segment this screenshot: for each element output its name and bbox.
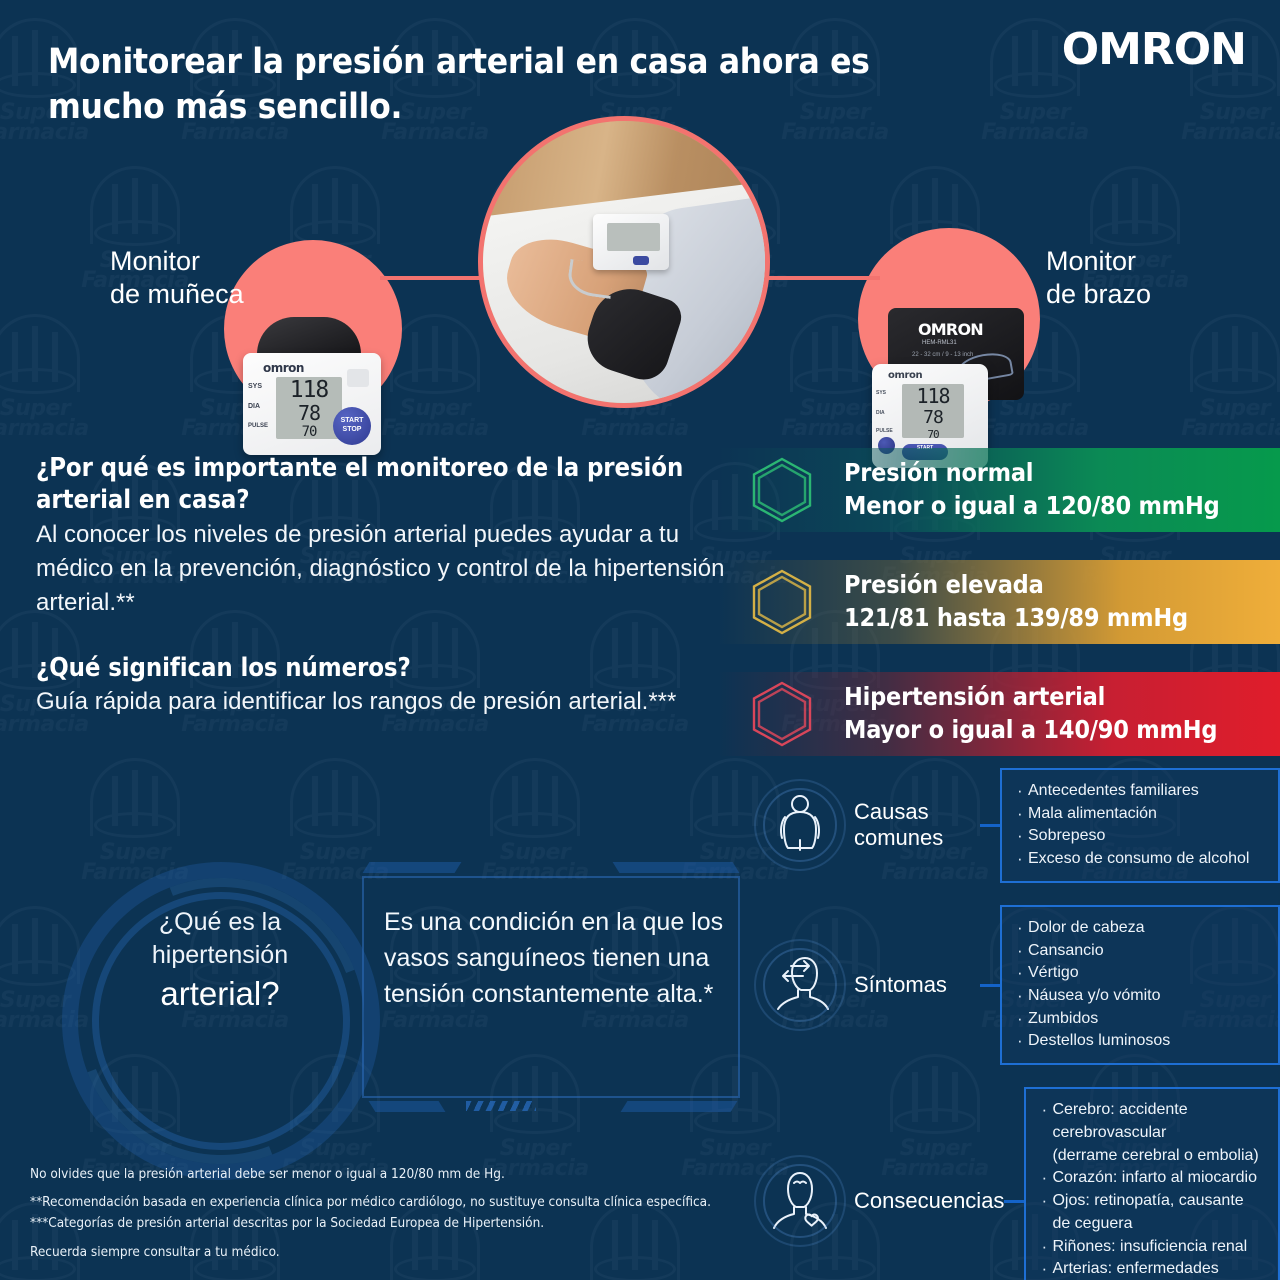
photo-monitor-button: [633, 256, 650, 265]
hd-question-line2: hipertensión: [78, 939, 362, 972]
arm-label-line2: de brazo: [1046, 278, 1246, 311]
list-item: Exceso de consumo de alcohol: [1016, 848, 1266, 871]
hero-section: omron SYS DIA PULSE 118 78 70 START STOP…: [0, 110, 1280, 440]
infographic-page: SuperFarmaciaSuperFarmaciaSuperFarmaciaS…: [0, 0, 1280, 1280]
footnote-2: **Recomendación basada en experiencia cl…: [30, 1192, 790, 1212]
bp-range-title: Presión normal: [844, 458, 1220, 488]
arm-pulse-label: PULSE: [876, 428, 893, 434]
list-item: Dolor de cabeza: [1016, 917, 1266, 940]
bp-range-title: Hipertensión arterial: [844, 682, 1217, 712]
arm-sys-label: SYS: [876, 390, 886, 396]
arm-screen: 118 78 70: [902, 384, 964, 438]
bp-range-2: Presión elevada121/81 hasta 139/89 mmHg: [718, 560, 1280, 644]
tech-frame-notch-tr: [613, 862, 740, 873]
tech-frame-notch-br: [621, 1101, 738, 1112]
list-item: Zumbidos: [1016, 1008, 1266, 1031]
photo-monitor-screen: [607, 223, 660, 251]
tech-frame-notch-tl: [363, 862, 462, 873]
wrist-sys-value: 118: [276, 379, 342, 402]
wrist-label-line1: Monitor: [110, 245, 250, 278]
hd-question-line3: arterial?: [78, 973, 362, 1014]
list-item: Destellos luminosos: [1016, 1030, 1266, 1053]
question-1-body: Al conocer los niveles de presión arteri…: [36, 518, 726, 620]
bp-range-3: Hipertensión arterialMayor o igual a 140…: [718, 672, 1280, 756]
csc-connector-line: [980, 824, 1000, 827]
list-item: Ojos: retinopatía, causante de ceguera: [1040, 1190, 1266, 1235]
footnote-4: Recuerda siempre consultar a tu médico.: [30, 1242, 790, 1262]
hexagon-icon: [748, 456, 816, 524]
csc-connector-line: [980, 984, 1000, 987]
list-item: Corazón: infarto al miocardio: [1040, 1167, 1266, 1190]
hexagon-icon: [748, 568, 816, 636]
hypertension-answer: Es una condición en la que los vasos san…: [384, 904, 744, 1012]
list-item: Cansancio: [1016, 940, 1266, 963]
wrist-monitor-device: omron SYS DIA PULSE 118 78 70 START STOP: [243, 317, 381, 457]
hypertension-question: ¿Qué es la hipertensión arterial?: [78, 906, 362, 1014]
start-stop-button[interactable]: START STOP: [333, 407, 371, 445]
csc-label: Causas comunes: [848, 799, 980, 852]
footnotes: No olvides que la presión arterial debe …: [30, 1164, 790, 1262]
arm-sys-value: 118: [902, 384, 964, 408]
list-item: Vértigo: [1016, 962, 1266, 985]
hypertension-definition: ¿Qué es la hipertensión arterial? Es una…: [78, 878, 738, 1128]
causes-symptoms-consequences: Causas comunesAntecedentes familiaresMal…: [752, 768, 1280, 1280]
arm-dia-label: DIA: [876, 410, 885, 416]
list-item: Antecedentes familiares: [1016, 780, 1266, 803]
cuff-brand-label: OMRON: [918, 320, 983, 339]
sys-label: SYS: [248, 383, 262, 390]
question-2-body: Guía rápida para identificar los rangos …: [36, 685, 726, 719]
wrist-label-line2: de muñeca: [110, 278, 250, 311]
list-item: Arterias: enfermedades vasculares: [1040, 1258, 1266, 1280]
omron-logo: OMRON: [1062, 24, 1246, 75]
csc-item-box: Cerebro: accidente cerebrovascular (derr…: [1024, 1087, 1280, 1280]
hexagon-icon: [748, 680, 816, 748]
bp-range-value: Mayor o igual a 140/90 mmHg: [844, 714, 1217, 745]
page-title: Monitorear la presión arterial en casa a…: [48, 40, 978, 130]
memory-button[interactable]: [347, 369, 369, 387]
csc-item-box: Dolor de cabezaCansancioVértigoNáusea y/…: [1000, 905, 1280, 1065]
connector-line-left: [380, 276, 490, 280]
photo-bp-monitor: [593, 214, 669, 270]
bp-range-value: Menor o igual a 120/80 mmHg: [844, 490, 1220, 521]
cuff-model-label: HEM-RML31: [922, 340, 957, 346]
bp-range-title: Presión elevada: [844, 570, 1188, 600]
arm-pulse-value: 70: [902, 428, 964, 441]
connector-line-right: [762, 276, 880, 280]
wrist-monitor-label: Monitor de muñeca: [110, 245, 250, 311]
wrist-device-body: omron SYS DIA PULSE 118 78 70 START STOP: [243, 353, 381, 455]
csc-row-3: ConsecuenciasCerebro: accidente cerebrov…: [752, 1087, 1280, 1280]
hd-question-line1: ¿Qué es la: [78, 906, 362, 939]
list-item: Náusea y/o vómito: [1016, 985, 1266, 1008]
arm-label-line1: Monitor: [1046, 245, 1246, 278]
wrist-screen: 118 78 70: [276, 377, 342, 439]
csc-row-1: Causas comunesAntecedentes familiaresMal…: [752, 768, 1280, 883]
info-text-block: ¿Por qué es importante el monitoreo de l…: [36, 452, 726, 719]
csc-item-box: Antecedentes familiaresMala alimentación…: [1000, 768, 1280, 883]
arm-monitor-label: Monitor de brazo: [1046, 245, 1246, 311]
tech-frame-notch-bl: [369, 1101, 446, 1112]
footnote-1: No olvides que la presión arterial debe …: [30, 1164, 790, 1184]
csc-label: Consecuencias: [848, 1188, 1004, 1214]
dizzy-head-icon: [752, 937, 848, 1033]
wrist-dia-value: 78: [276, 403, 342, 423]
bp-range-value: 121/81 hasta 139/89 mmHg: [844, 602, 1188, 633]
hero-photo-measurement: [478, 116, 770, 408]
stop-label: STOP: [343, 426, 362, 435]
cuff-size-note: 22 - 32 cm / 9 - 13 inch: [912, 352, 973, 358]
list-item: Sobrepeso: [1016, 825, 1266, 848]
csc-label: Síntomas: [848, 972, 980, 998]
bp-range-list: Presión normalMenor o igual a 120/80 mmH…: [718, 448, 1280, 784]
device-brand-label: omron: [263, 361, 304, 375]
list-item: Cerebro: accidente cerebrovascular (derr…: [1040, 1099, 1266, 1167]
overweight-person-icon: [752, 777, 848, 873]
start-label: START: [341, 417, 364, 426]
csc-row-2: SíntomasDolor de cabezaCansancioVértigoN…: [752, 905, 1280, 1065]
list-item: Riñones: insuficiencia renal: [1040, 1236, 1266, 1259]
bp-range-1: Presión normalMenor o igual a 120/80 mmH…: [718, 448, 1280, 532]
tech-frame-hatch: [466, 1101, 536, 1111]
dia-label: DIA: [248, 403, 260, 410]
arm-device-brand-label: omron: [888, 370, 922, 381]
footnote-3: ***Categorías de presión arterial descri…: [30, 1213, 790, 1233]
arm-dia-value: 78: [902, 407, 964, 428]
pulse-label: PULSE: [248, 423, 268, 429]
list-item: Mala alimentación: [1016, 803, 1266, 826]
arm-monitor-device: OMRON HEM-RML31 22 - 32 cm / 9 - 13 inch…: [872, 308, 1024, 468]
question-2-title: ¿Qué significan los números?: [36, 652, 726, 684]
page-header: Monitorear la presión arterial en casa a…: [48, 40, 978, 130]
question-1-title: ¿Por qué es importante el monitoreo de l…: [36, 452, 726, 517]
csc-connector-line: [1004, 1200, 1024, 1203]
